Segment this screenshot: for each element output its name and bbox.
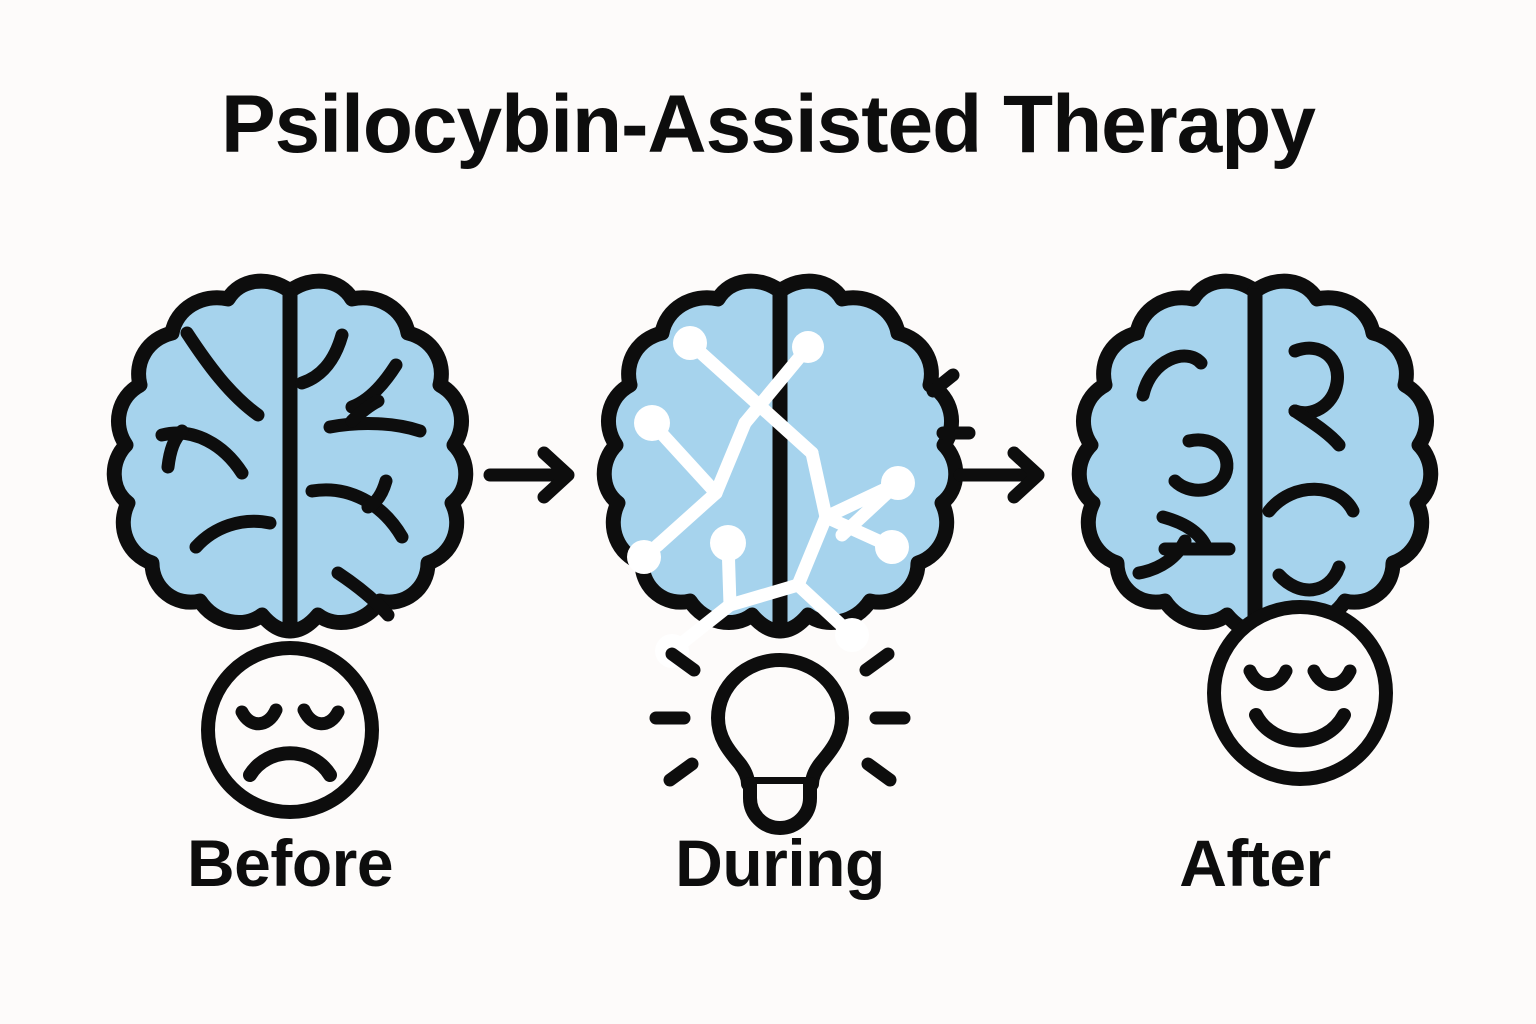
spark-dashes-icon bbox=[933, 375, 969, 433]
stage-label-before: Before bbox=[90, 825, 490, 901]
arrow-right-icon bbox=[960, 453, 1038, 497]
node bbox=[673, 326, 707, 360]
page-title: Psilocybin-Assisted Therapy bbox=[0, 82, 1536, 168]
node bbox=[875, 530, 909, 564]
stage-label-during: During bbox=[580, 825, 980, 901]
stage-before: Before bbox=[90, 255, 490, 935]
node bbox=[792, 331, 824, 363]
happy-face-icon bbox=[1214, 607, 1386, 779]
mood-icon-before bbox=[90, 635, 490, 835]
brain-before bbox=[90, 255, 490, 655]
stage-label-after: After bbox=[1055, 825, 1455, 901]
mood-icon-after bbox=[1055, 585, 1455, 785]
lightbulb-icon bbox=[656, 654, 904, 828]
arrow-before-to-during bbox=[480, 440, 590, 510]
arrow-during-to-after bbox=[950, 440, 1060, 510]
sad-face-icon bbox=[208, 648, 372, 812]
infographic-canvas: Psilocybin-Assisted Therapy bbox=[0, 0, 1536, 1024]
mood-icon-during bbox=[580, 630, 980, 830]
arrow-right-icon bbox=[490, 453, 568, 497]
stage-after: After bbox=[1055, 255, 1455, 935]
node bbox=[710, 525, 746, 561]
node bbox=[627, 540, 661, 574]
